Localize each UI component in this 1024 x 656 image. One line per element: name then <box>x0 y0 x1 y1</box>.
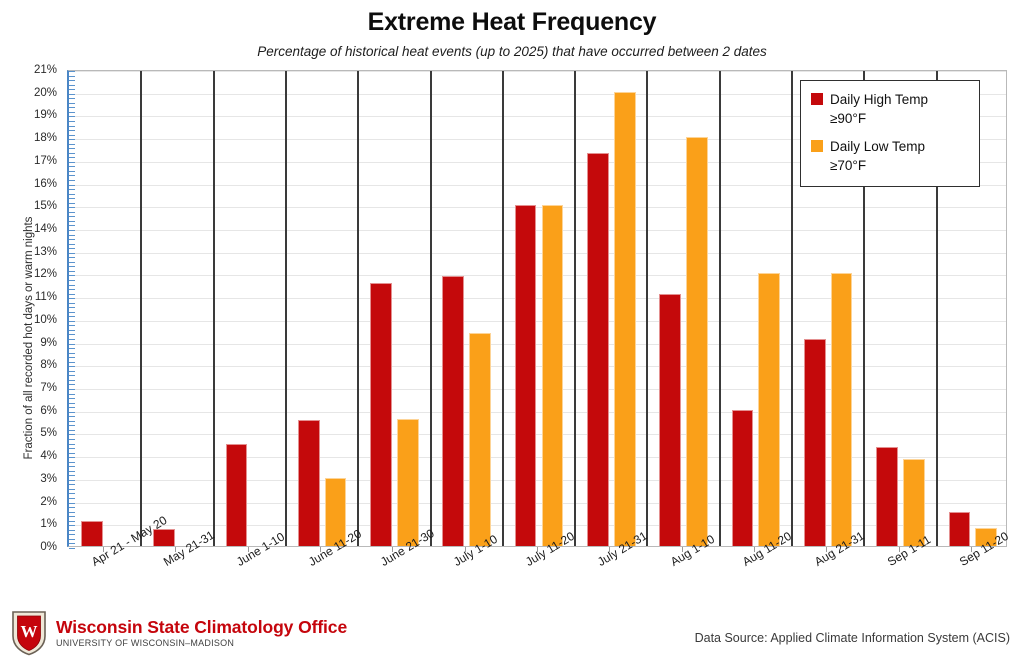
y-axis-tick-label: 9% <box>40 337 57 349</box>
logo-text-block: Wisconsin State Climatology Office UNIVE… <box>56 618 347 648</box>
y-axis-tick-label: 5% <box>40 427 57 439</box>
logo-title: Wisconsin State Climatology Office <box>56 618 347 636</box>
y-axis-title: Fraction of all recorded hot days or war… <box>23 128 35 548</box>
bar-high-temp <box>226 444 248 546</box>
bar-low-temp <box>614 92 636 546</box>
legend-label-high-temp: Daily High Temp ≥90°F <box>830 90 928 128</box>
y-axis-tick-label: 20% <box>34 87 57 99</box>
uw-crest-icon: W <box>10 610 48 656</box>
y-axis-tick-label: 12% <box>34 268 57 280</box>
data-source-note: Data Source: Applied Climate Information… <box>695 631 1010 645</box>
legend-label-low-temp-line1: Daily Low Temp <box>830 139 925 154</box>
legend-item-low-temp: Daily Low Temp ≥70°F <box>811 137 969 175</box>
bar-low-temp <box>542 205 564 546</box>
bar-high-temp <box>515 205 537 546</box>
y-axis-tick-label: 2% <box>40 496 57 508</box>
chart-title: Extreme Heat Frequency <box>0 8 1024 37</box>
organization-logo: W Wisconsin State Climatology Office UNI… <box>10 610 347 656</box>
y-axis-tick-label: 10% <box>34 314 57 326</box>
bar-high-temp <box>298 420 320 546</box>
bar-high-temp <box>949 512 971 546</box>
bar-high-temp <box>442 276 464 546</box>
y-axis-tick-label: 18% <box>34 132 57 144</box>
bar-high-temp <box>876 447 898 546</box>
bar-low-temp <box>469 333 491 547</box>
legend-label-high-temp-line2: ≥90°F <box>830 111 866 126</box>
bar-high-temp <box>587 153 609 546</box>
y-axis-tick-label: 17% <box>34 155 57 167</box>
crest-letter: W <box>21 622 38 641</box>
bar-high-temp <box>370 283 392 546</box>
legend-item-high-temp: Daily High Temp ≥90°F <box>811 90 969 128</box>
legend-label-low-temp-line2: ≥70°F <box>830 158 866 173</box>
y-axis-tick-label: 0% <box>40 541 57 553</box>
y-axis-tick-label: 16% <box>34 178 57 190</box>
bar-low-temp <box>397 419 419 546</box>
bar-low-temp <box>903 459 925 546</box>
y-axis-tick-label: 21% <box>34 64 57 76</box>
y-axis: Fraction of all recorded hot days or war… <box>0 70 62 547</box>
y-axis-tick-label: 14% <box>34 223 57 235</box>
legend-swatch-high-temp <box>811 93 823 105</box>
bar-low-temp <box>686 137 708 546</box>
y-axis-tick-label: 11% <box>35 291 57 303</box>
bar-high-temp <box>659 294 681 546</box>
bar-high-temp <box>732 410 754 546</box>
logo-subtitle: UNIVERSITY OF WISCONSIN–MADISON <box>56 638 347 648</box>
y-axis-tick-label: 8% <box>40 359 57 371</box>
y-axis-tick-label: 13% <box>34 246 57 258</box>
legend-label-high-temp-line1: Daily High Temp <box>830 92 928 107</box>
y-axis-tick-label: 7% <box>40 382 57 394</box>
legend: Daily High Temp ≥90°F Daily Low Temp ≥70… <box>800 80 980 187</box>
legend-swatch-low-temp <box>811 140 823 152</box>
y-axis-tick-label: 1% <box>40 518 57 530</box>
y-axis-tick-label: 19% <box>34 109 57 121</box>
y-axis-tick-label: 6% <box>40 405 57 417</box>
bar-high-temp <box>804 339 826 546</box>
y-axis-tick-label: 3% <box>40 473 57 485</box>
bar-low-temp <box>831 273 853 546</box>
y-axis-tick-label: 4% <box>40 450 57 462</box>
bar-high-temp <box>81 521 103 546</box>
y-axis-tick-label: 15% <box>34 200 57 212</box>
bar-low-temp <box>758 273 780 546</box>
legend-label-low-temp: Daily Low Temp ≥70°F <box>830 137 925 175</box>
chart-subtitle: Percentage of historical heat events (up… <box>0 44 1024 59</box>
x-axis: Apr 21 - May 20May 21-31June 1-10June 11… <box>67 549 1007 609</box>
